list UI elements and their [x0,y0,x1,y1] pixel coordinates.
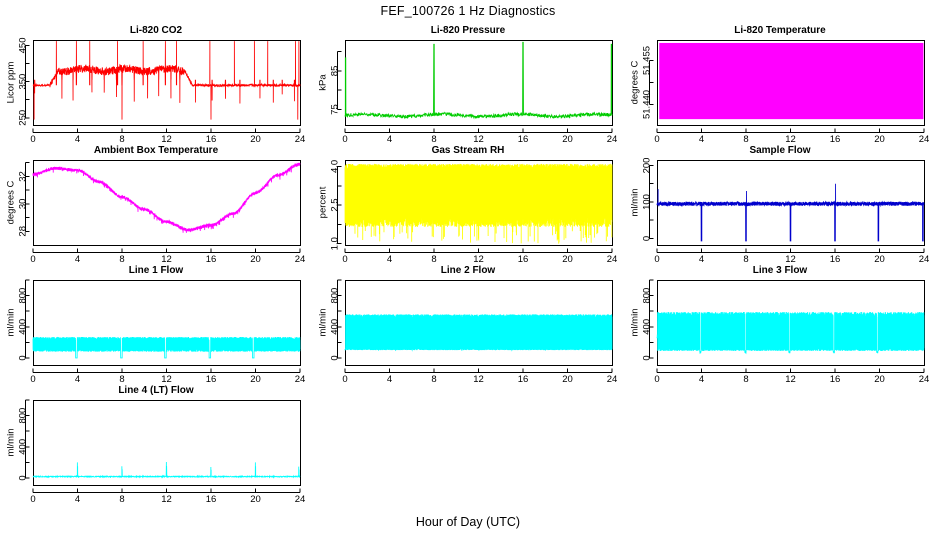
xtick-label: 24 [607,134,618,145]
xtick-label: 8 [119,134,124,145]
xtick-label: 24 [295,374,306,385]
panel-line-3-flow: Line 3 Flow0400800ml/min04812162024 [624,265,936,385]
ytick-label: 2.5 [330,198,341,211]
xtick-label: 0 [342,374,347,385]
xtick-label: 12 [473,374,484,385]
ytick-label: 800 [18,408,29,424]
xtick-label: 4 [387,374,392,385]
plot-line-2-flow: 0400800ml/min04812162024 [312,265,624,385]
series-line-3-flow [657,312,924,353]
xtick-label: 24 [295,494,306,505]
panel-li820-pressure: Li-820 Pressure7585kPa04812162024 [312,25,624,145]
ytick-label: 800 [642,288,653,304]
plot-li820-temperature: 51.44051.455degrees C04812162024 [624,25,936,145]
xtick-label: 16 [830,134,841,145]
xtick-label: 4 [387,254,392,265]
panel-gas-stream-rh: Gas Stream RH1.02.54.0percent04812162024 [312,145,624,265]
xtick-label: 20 [250,374,261,385]
xtick-label: 16 [518,374,529,385]
series-sample-flow [657,184,924,242]
xtick-label: 16 [206,374,217,385]
series-li820-temperature [659,43,923,119]
xtick-label: 0 [654,254,659,265]
series-gas-stream-rh [345,164,612,244]
xtick-label: 0 [30,134,35,145]
xtick-label: 0 [342,134,347,145]
diagnostics-figure: FEF_100726 1 Hz Diagnostics Li-820 CO225… [0,0,936,540]
xtick-label: 8 [119,494,124,505]
ytick-label: 400 [18,439,29,455]
y-axis-label-ambient-box-temperature: degrees C [6,180,17,224]
xtick-label: 24 [607,254,618,265]
xtick-label: 24 [919,134,930,145]
xtick-label: 16 [830,254,841,265]
xtick-label: 0 [342,254,347,265]
xtick-label: 16 [830,374,841,385]
xtick-label: 12 [161,374,172,385]
xtick-label: 12 [785,254,796,265]
panel-line-1-flow: Line 1 Flow0400800ml/min04812162024 [0,265,312,385]
panel-sample-flow: Sample Flow0100200ml/min04812162024 [624,145,936,265]
xtick-label: 0 [30,374,35,385]
y-axis-label-sample-flow: ml/min [630,189,641,217]
xtick-label: 8 [431,254,436,265]
xtick-label: 24 [919,254,930,265]
xtick-label: 12 [473,254,484,265]
ytick-label: 0 [18,355,29,360]
ytick-label: 100 [642,194,653,210]
xtick-label: 24 [295,254,306,265]
xtick-label: 20 [250,254,261,265]
xtick-label: 20 [562,134,573,145]
xtick-label: 0 [654,134,659,145]
xtick-label: 20 [874,134,885,145]
xtick-label: 8 [431,134,436,145]
panel-line-2-flow: Line 2 Flow0400800ml/min04812162024 [312,265,624,385]
series-li820-pressure [345,42,612,118]
figure-xlabel: Hour of Day (UTC) [0,515,936,529]
xtick-label: 4 [75,374,80,385]
panel-li820-co2: Li-820 CO2250350450Licor ppm04812162024 [0,25,312,145]
xtick-label: 16 [518,134,529,145]
xtick-label: 0 [30,254,35,265]
panel-li820-temperature: Li-820 Temperature51.44051.455degrees C0… [624,25,936,145]
ytick-label: 75 [330,104,341,115]
ytick-label: 51.440 [642,90,653,119]
figure-title: FEF_100726 1 Hz Diagnostics [0,4,936,18]
xtick-label: 12 [473,134,484,145]
xtick-label: 4 [699,254,704,265]
xtick-label: 8 [743,254,748,265]
y-axis-label-line-1-flow: ml/min [6,309,17,337]
panel-ambient-box-temperature: Ambient Box Temperature283032degrees C04… [0,145,312,265]
plot-line-1-flow: 0400800ml/min04812162024 [0,265,312,385]
ytick-label: 400 [642,319,653,335]
series-line-2-flow [345,314,612,350]
ytick-label: 450 [18,37,29,53]
ytick-label: 0 [330,355,341,360]
xtick-label: 8 [743,374,748,385]
ytick-label: 85 [330,66,341,77]
plot-gas-stream-rh: 1.02.54.0percent04812162024 [312,145,624,265]
xtick-label: 8 [119,254,124,265]
ytick-label: 30 [18,199,29,210]
panel-line-4-lt-flow: Line 4 (LT) Flow0400800ml/min04812162024 [0,385,312,505]
xtick-label: 12 [161,134,172,145]
ytick-label: 32 [18,171,29,182]
ytick-label: 800 [330,288,341,304]
ytick-label: 250 [18,110,29,126]
xtick-label: 12 [161,494,172,505]
ytick-label: 4.0 [330,160,341,173]
xtick-label: 4 [75,134,80,145]
ytick-label: 200 [642,158,653,174]
xtick-label: 16 [206,494,217,505]
xtick-label: 20 [250,494,261,505]
ytick-label: 1.0 [330,237,341,250]
ytick-label: 400 [330,319,341,335]
ytick-label: 0 [18,475,29,480]
xtick-label: 4 [699,374,704,385]
series-ambient-box-temperature [33,163,300,233]
xtick-label: 20 [874,374,885,385]
y-axis-label-gas-stream-rh: percent [318,186,329,218]
xtick-label: 4 [75,254,80,265]
xtick-label: 12 [785,134,796,145]
y-axis-label-li820-pressure: kPa [318,74,329,91]
xtick-label: 20 [562,374,573,385]
series-li820-co2 [33,41,300,119]
y-axis-label-line-4-lt-flow: ml/min [6,429,17,457]
ytick-label: 0 [642,236,653,241]
xtick-label: 4 [387,134,392,145]
xtick-label: 12 [161,254,172,265]
ytick-label: 350 [18,74,29,90]
xtick-label: 4 [699,134,704,145]
xtick-label: 0 [30,494,35,505]
plot-ambient-box-temperature: 283032degrees C04812162024 [0,145,312,265]
plot-li820-co2: 250350450Licor ppm04812162024 [0,25,312,145]
xtick-label: 4 [75,494,80,505]
xtick-label: 0 [654,374,659,385]
xtick-label: 16 [206,134,217,145]
xtick-label: 24 [607,374,618,385]
xtick-label: 24 [295,134,306,145]
y-axis-label-line-3-flow: ml/min [630,309,641,337]
ytick-label: 800 [18,288,29,304]
xtick-label: 24 [919,374,930,385]
y-axis-label-line-2-flow: ml/min [318,309,329,337]
ytick-label: 51.455 [642,46,653,75]
plot-line-3-flow: 0400800ml/min04812162024 [624,265,936,385]
xtick-label: 8 [119,374,124,385]
series-line-1-flow [33,337,300,358]
xtick-label: 20 [562,254,573,265]
xtick-label: 16 [518,254,529,265]
series-line-4-lt-flow [33,462,300,477]
xtick-label: 20 [874,254,885,265]
ytick-label: 28 [18,226,29,237]
xtick-label: 8 [743,134,748,145]
xtick-label: 16 [206,254,217,265]
plot-li820-pressure: 7585kPa04812162024 [312,25,624,145]
plot-line-4-lt-flow: 0400800ml/min04812162024 [0,385,312,505]
plot-sample-flow: 0100200ml/min04812162024 [624,145,936,265]
xtick-label: 12 [785,374,796,385]
y-axis-label-li820-co2: Licor ppm [6,62,17,104]
ytick-label: 0 [642,355,653,360]
ytick-label: 400 [18,319,29,335]
y-axis-label-li820-temperature: degrees C [630,60,641,104]
xtick-label: 20 [250,134,261,145]
xtick-label: 8 [431,374,436,385]
